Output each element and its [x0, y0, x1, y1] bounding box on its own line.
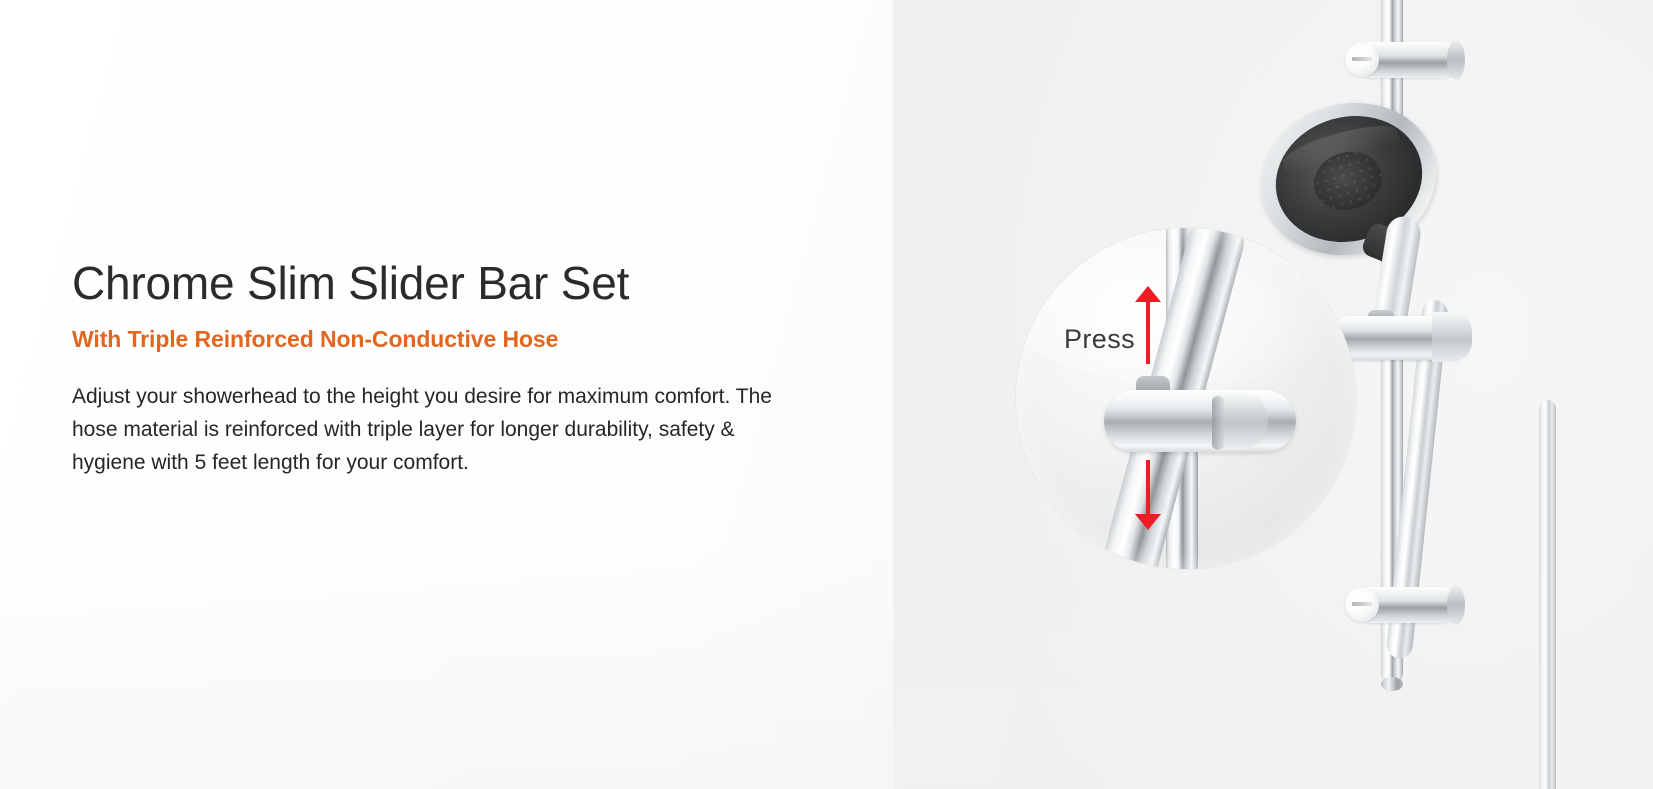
page-title: Chrome Slim Slider Bar Set: [72, 258, 832, 310]
brand-mark-icon: [1352, 57, 1372, 61]
bracket-arm-icon: [1367, 42, 1459, 78]
callout-edge-fade: [1016, 228, 1356, 569]
product-feature-banner: Chrome Slim Slider Bar Set With Triple R…: [0, 0, 1653, 789]
wall-bracket-bottom-icon: [1339, 585, 1459, 625]
bracket-arm-icon: [1367, 587, 1459, 623]
bracket-cap-icon: [1345, 43, 1379, 77]
zoom-callout: Press: [1016, 228, 1356, 569]
copy-block: Chrome Slim Slider Bar Set With Triple R…: [72, 258, 832, 479]
bracket-cap-icon: [1345, 588, 1379, 622]
body-paragraph: Adjust your showerhead to the height you…: [72, 381, 787, 479]
brand-mark-icon: [1352, 602, 1372, 606]
bracket-wallplate-icon: [1447, 40, 1465, 80]
wall-bracket-top-icon: [1339, 40, 1459, 80]
bracket-wallplate-icon: [1447, 585, 1465, 625]
subtitle: With Triple Reinforced Non-Conductive Ho…: [72, 326, 832, 354]
slider-cradle-icon: [1432, 312, 1472, 362]
hose-tail-icon: [1539, 400, 1556, 789]
